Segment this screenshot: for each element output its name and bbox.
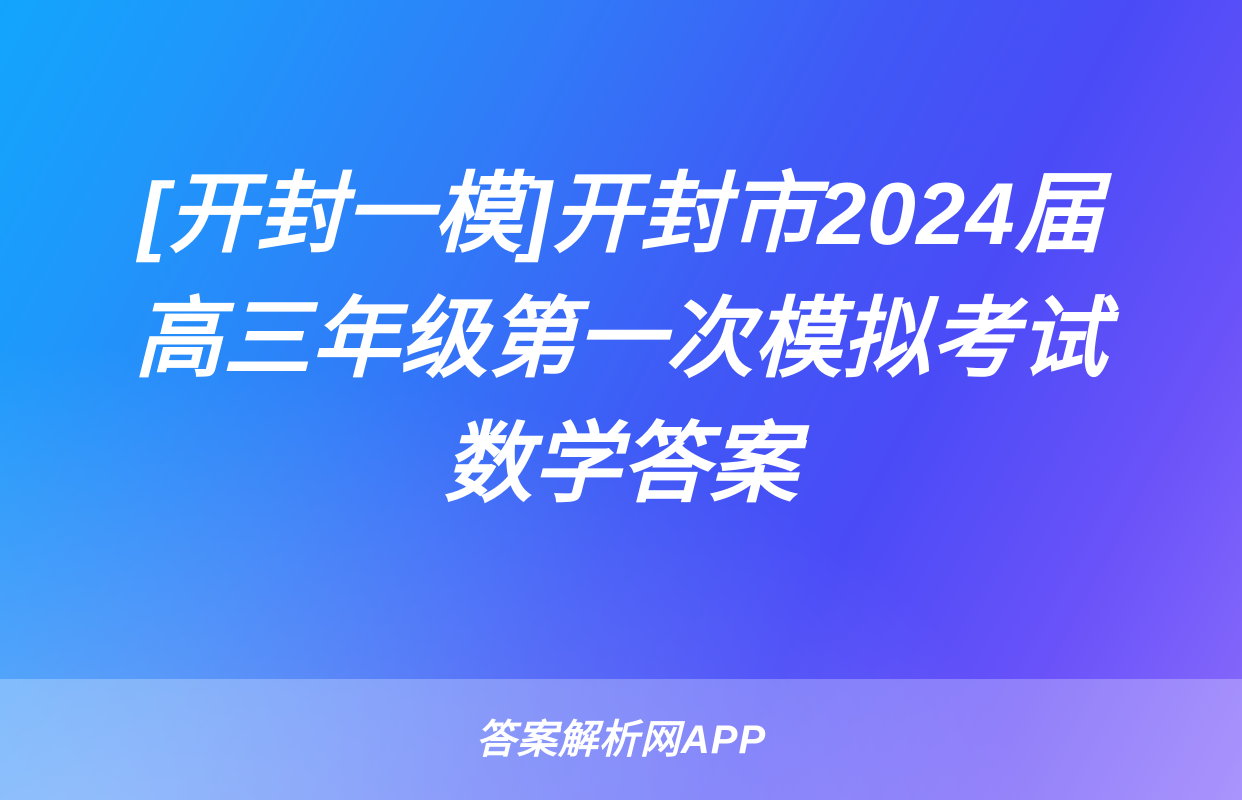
title-area: [开封一模]开封市2024届高三年级第一次模拟考试数学答案 [0, 0, 1242, 679]
brand-watermark-label: 答案解析网APP [476, 720, 766, 760]
exam-cover-card: [开封一模]开封市2024届高三年级第一次模拟考试数学答案 答案解析网APP [0, 0, 1242, 800]
page-title: [开封一模]开封市2024届高三年级第一次模拟考试数学答案 [96, 152, 1146, 527]
footer-brand-band: 答案解析网APP [0, 679, 1242, 800]
